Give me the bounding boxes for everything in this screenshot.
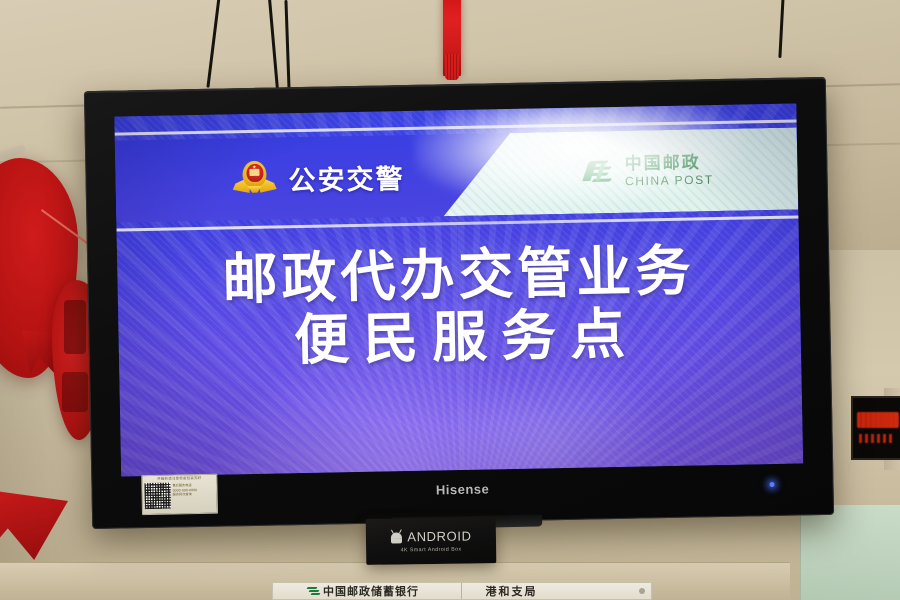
postal-bank-name: 中国邮政储蓄银行	[323, 583, 419, 599]
counter-nameplate: 中国邮政储蓄银行 港和支局	[272, 582, 652, 600]
power-led-indicator	[769, 482, 774, 487]
china-post-label-cn: 中国邮政	[625, 155, 714, 174]
tv-warranty-sticker: 开箱前请注意检查包装完好 售后服务电话 0000-000-0000 服务网点查询	[141, 474, 218, 515]
android-box-subtitle: 4K Smart Android Box	[401, 547, 462, 554]
screen-headline: 邮政代办交管业务 便民服务点	[117, 239, 801, 376]
branch-name: 港和支局	[462, 583, 640, 599]
led-scrolling-sign	[851, 396, 900, 460]
sticker-line: 售后服务电话	[172, 483, 214, 487]
sticker-line: 服务网点查询	[173, 493, 215, 497]
android-box-brand: ANDROID	[407, 528, 471, 544]
postal-bank-logo-icon	[307, 586, 320, 597]
red-tassel-decoration	[443, 0, 461, 76]
china-post-label-en: CHINA POST	[625, 174, 714, 188]
china-post-logo-icon	[585, 158, 616, 187]
police-label: 公安交警	[288, 157, 405, 198]
qr-code-icon	[144, 482, 170, 508]
china-post-brand-block: 中国邮政 CHINA POST	[585, 155, 714, 188]
android-robot-icon	[390, 531, 403, 543]
police-brand-block: 公安交警	[233, 157, 405, 199]
television: 公安交警 中国邮政 CHINA POST 邮政代办交管业务 便民服务	[84, 77, 834, 529]
wall-panel-green	[800, 505, 900, 600]
police-emblem-icon	[233, 160, 276, 199]
red-lantern-slot	[62, 372, 88, 412]
nameplate-screw	[639, 588, 645, 594]
led-sign-line-2	[859, 434, 895, 443]
headline-line-2: 便民服务点	[118, 299, 801, 377]
tv-screen[interactable]: 公安交警 中国邮政 CHINA POST 邮政代办交管业务 便民服务	[114, 103, 803, 476]
led-sign-line-1	[857, 412, 899, 428]
android-tv-box: ANDROID 4K Smart Android Box	[366, 517, 497, 565]
red-lantern-slot	[64, 300, 86, 354]
screen-banner: 公安交警 中国邮政 CHINA POST	[115, 127, 798, 222]
